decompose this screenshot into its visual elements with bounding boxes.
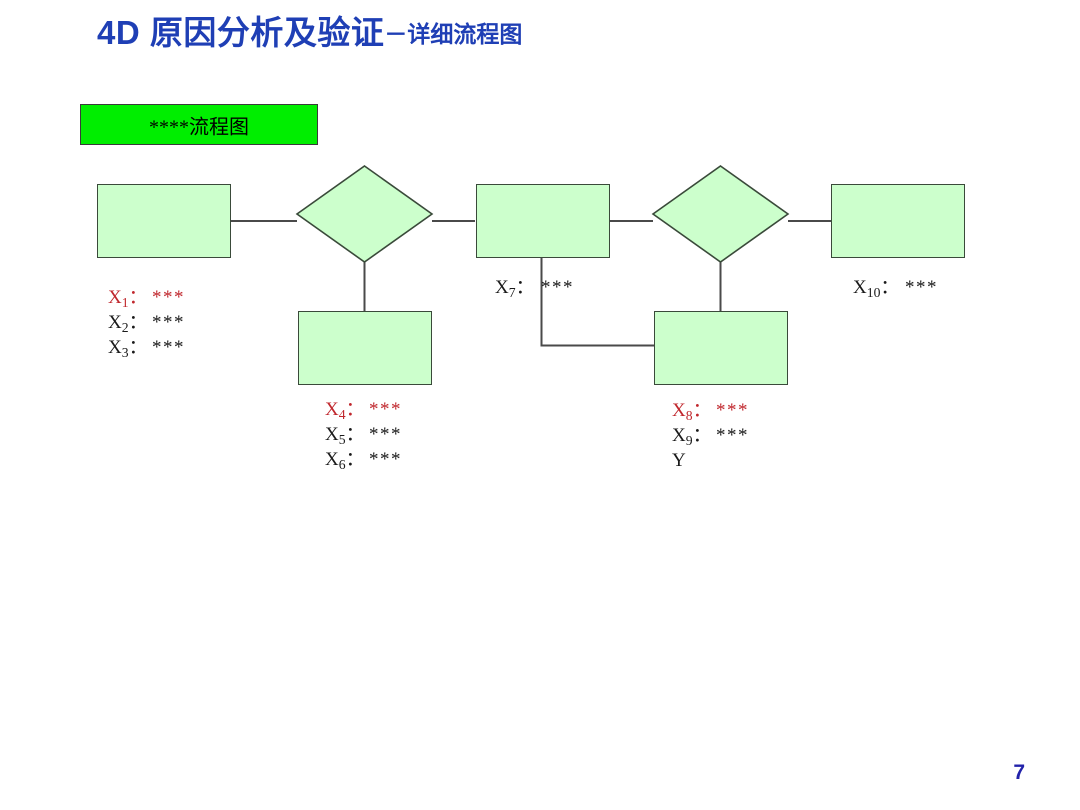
label-separator: ：	[129, 312, 148, 333]
label-key: X9：	[672, 424, 716, 449]
label-row: X4：***	[325, 398, 402, 423]
flowchart-caption-box: ****流程图	[80, 104, 318, 145]
label-row: X10：***	[853, 276, 938, 301]
label-value: ***	[152, 286, 185, 310]
label-subscript: 4	[339, 407, 346, 422]
label-row: X2：***	[108, 311, 185, 336]
label-key: Y	[672, 449, 716, 473]
label-group-x1-x3: X1：*** X2：*** X3：***	[108, 286, 185, 361]
decision-node-2	[653, 166, 788, 262]
process-node-2	[298, 311, 432, 385]
label-subscript: 8	[686, 408, 693, 423]
page-title-sub: －详细流程图	[384, 21, 522, 47]
label-separator: ：	[880, 277, 899, 298]
label-separator: ：	[129, 287, 148, 308]
label-value: ***	[905, 276, 938, 300]
label-row: Y	[672, 449, 749, 473]
label-row: X1：***	[108, 286, 185, 311]
label-key: X8：	[672, 399, 716, 424]
label-key: X2：	[108, 311, 152, 336]
process-node-1	[97, 184, 231, 258]
label-subscript: 5	[339, 432, 346, 447]
label-row: X5：***	[325, 423, 402, 448]
label-key: X6：	[325, 448, 369, 473]
label-subscript: 6	[339, 457, 346, 472]
flowchart-caption-text: ****流程图	[81, 110, 317, 139]
label-row: X9：***	[672, 424, 749, 449]
label-key: X7：	[495, 276, 541, 301]
label-value: ***	[152, 311, 185, 335]
decision-node-1	[297, 166, 432, 262]
label-row: X8：***	[672, 399, 749, 424]
label-subscript: 7	[509, 285, 516, 300]
label-separator: ：	[693, 425, 712, 446]
label-key: X1：	[108, 286, 152, 311]
page-title: 4D 原因分析及验证－详细流程图	[97, 16, 522, 49]
label-key: X10：	[853, 276, 905, 301]
label-separator: ：	[129, 337, 148, 358]
label-value: ***	[369, 423, 402, 447]
label-value: ***	[716, 424, 749, 448]
label-row: X3：***	[108, 336, 185, 361]
label-row: X7：***	[495, 276, 574, 301]
label-value: ***	[716, 399, 749, 423]
label-group-x10: X10：***	[853, 276, 938, 301]
label-separator: ：	[346, 424, 365, 445]
connector-p3-p4-elbow	[542, 258, 656, 346]
label-subscript: 2	[122, 320, 129, 335]
process-node-5	[831, 184, 965, 258]
label-separator: ：	[346, 449, 365, 470]
label-subscript: 10	[867, 285, 881, 300]
page-number: 7	[1013, 761, 1025, 785]
process-node-4	[654, 311, 788, 385]
label-group-x7: X7：***	[495, 276, 574, 301]
label-separator: ：	[693, 400, 712, 421]
label-group-x4-x6: X4：*** X5：*** X6：***	[325, 398, 402, 473]
label-key: X4：	[325, 398, 369, 423]
label-value: ***	[369, 398, 402, 422]
page-title-main: 4D 原因分析及验证	[97, 14, 384, 51]
label-separator: ：	[346, 399, 365, 420]
label-key: X5：	[325, 423, 369, 448]
label-row: X6：***	[325, 448, 402, 473]
label-key: X3：	[108, 336, 152, 361]
label-value: ***	[152, 336, 185, 360]
label-subscript: 9	[686, 433, 693, 448]
label-separator: ：	[516, 277, 535, 298]
process-node-3	[476, 184, 610, 258]
label-subscript: 1	[122, 295, 129, 310]
label-group-x8-y: X8：*** X9：*** Y	[672, 399, 749, 473]
label-value: ***	[541, 276, 574, 300]
label-value: ***	[369, 448, 402, 472]
label-subscript: 3	[122, 345, 129, 360]
